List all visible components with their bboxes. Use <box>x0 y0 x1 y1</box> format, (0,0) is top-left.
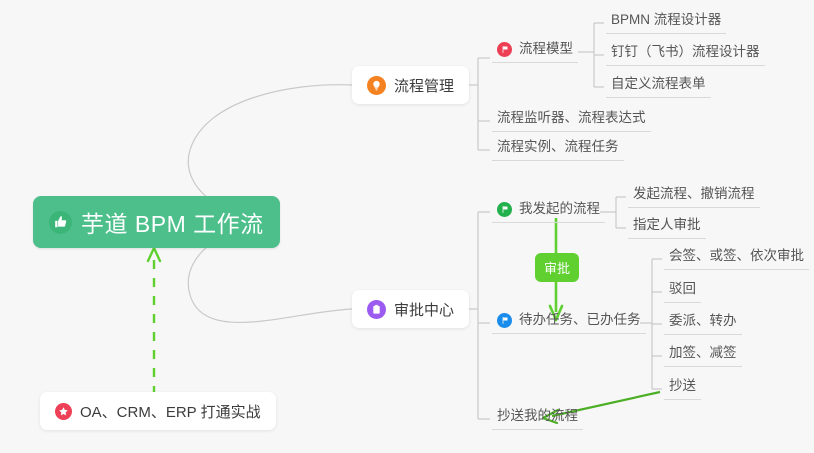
lightbulb-icon <box>367 76 386 95</box>
dashed-arrow-to-root <box>148 248 160 395</box>
leaf-label: 会签、或签、依次审批 <box>669 245 804 267</box>
leaf-label: BPMN 流程设计器 <box>611 9 721 31</box>
leaf-cc-to-me-process[interactable]: 抄送我的流程 <box>492 408 583 430</box>
leaf-bpmn-designer[interactable]: BPMN 流程设计器 <box>606 12 726 34</box>
flag-icon <box>497 313 512 328</box>
branch-approval-center[interactable]: 审批中心 <box>352 290 469 328</box>
leaf-label: 钉钉（飞书）流程设计器 <box>611 41 760 63</box>
leaf-label: 指定人审批 <box>633 214 701 236</box>
bottom-note-card[interactable]: OA、CRM、ERP 打通实战 <box>40 392 276 430</box>
root-node[interactable]: 芋道 BPM 工作流 <box>33 196 280 248</box>
thumbs-up-icon <box>49 211 72 234</box>
chip-label: 审批 <box>544 261 570 276</box>
leaf-label: 驳回 <box>669 278 696 300</box>
leaf-label: 自定义流程表单 <box>611 73 706 95</box>
leaf-label: 我发起的流程 <box>519 198 600 220</box>
leaf-my-initiated-process[interactable]: 我发起的流程 <box>492 201 605 223</box>
clipboard-icon <box>367 300 386 319</box>
leaf-reject[interactable]: 驳回 <box>664 281 701 303</box>
leaf-label: 待办任务、已办任务 <box>519 309 641 331</box>
leaf-label: 加签、减签 <box>669 342 737 364</box>
mindmap-canvas: 芋道 BPM 工作流 流程管理 流程模型 流程监听器、流程表达式 流程实例、流程… <box>0 0 814 453</box>
leaf-label: 抄送 <box>669 375 696 397</box>
leaf-process-instance[interactable]: 流程实例、流程任务 <box>492 139 624 161</box>
leaf-label: 抄送我的流程 <box>497 405 578 427</box>
flag-icon <box>497 202 512 217</box>
leaf-process-model[interactable]: 流程模型 <box>492 41 578 63</box>
branch-label: 流程管理 <box>394 75 454 96</box>
branch-label: 审批中心 <box>394 299 454 320</box>
flag-icon <box>497 42 512 57</box>
leaf-todo-done-tasks[interactable]: 待办任务、已办任务 <box>492 312 646 334</box>
leaf-assigned-approver[interactable]: 指定人审批 <box>628 217 706 239</box>
leaf-dingtalk-designer[interactable]: 钉钉（飞书）流程设计器 <box>606 44 765 66</box>
annotation-chip-approval: 审批 <box>535 253 579 282</box>
leaf-label: 发起流程、撤销流程 <box>633 183 755 205</box>
leaf-custom-form[interactable]: 自定义流程表单 <box>606 76 711 98</box>
bottom-note-label: OA、CRM、ERP 打通实战 <box>80 401 261 422</box>
leaf-start-cancel-process[interactable]: 发起流程、撤销流程 <box>628 186 760 208</box>
leaf-process-listener[interactable]: 流程监听器、流程表达式 <box>492 110 651 132</box>
root-label: 芋道 BPM 工作流 <box>81 205 264 239</box>
leaf-carbon-copy[interactable]: 抄送 <box>664 378 701 400</box>
leaf-label: 流程模型 <box>519 38 573 60</box>
branch-process-management[interactable]: 流程管理 <box>352 66 469 104</box>
leaf-label: 流程监听器、流程表达式 <box>497 107 646 129</box>
leaf-label: 委派、转办 <box>669 310 737 332</box>
leaf-countersign[interactable]: 会签、或签、依次审批 <box>664 248 809 270</box>
leaf-label: 流程实例、流程任务 <box>497 136 619 158</box>
star-icon <box>55 403 72 420</box>
leaf-add-remove-sign[interactable]: 加签、减签 <box>664 345 742 367</box>
leaf-delegate-transfer[interactable]: 委派、转办 <box>664 313 742 335</box>
